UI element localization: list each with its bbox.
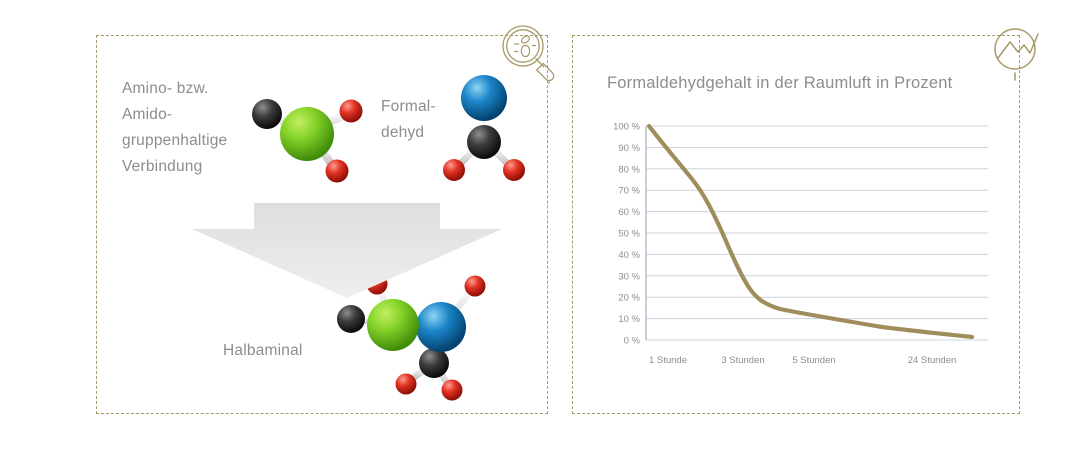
x-tick-label: 3 Stunden: [721, 355, 764, 366]
x-tick-label: 1 Stunde: [649, 355, 687, 366]
y-tick-label: 30 %: [618, 271, 640, 282]
y-tick-label: 80 %: [618, 164, 640, 175]
chart-title: Formaldehydgehalt in der Raumluft in Pro…: [607, 74, 952, 93]
y-tick-label: 10 %: [618, 314, 640, 325]
amino-compound-molecule: [240, 84, 380, 196]
x-tick-label: 5 Stunden: [792, 355, 835, 366]
chart-y-tick-labels: 100 % 90 % 80 % 70 % 60 % 50 % 40 % 30 %…: [613, 122, 640, 347]
formaldehyde-decay-line-chart: 100 % 90 % 80 % 70 % 60 % 50 % 40 % 30 %…: [596, 118, 996, 380]
chart-data-line: [649, 126, 972, 337]
y-tick-label: 0 %: [624, 336, 641, 347]
trend-line-circle-icon: [988, 22, 1050, 84]
y-tick-label: 70 %: [618, 186, 640, 197]
x-tick-label: 24 Stunden: [908, 355, 957, 366]
chart-gridlines: [646, 126, 988, 340]
y-tick-label: 100 %: [613, 122, 640, 133]
y-tick-label: 90 %: [618, 143, 640, 154]
y-tick-label: 50 %: [618, 229, 640, 240]
down-arrow-icon: [192, 203, 502, 298]
chart-x-tick-labels: 1 Stunde 3 Stunden 5 Stunden 24 Stunden: [649, 355, 956, 366]
y-tick-label: 60 %: [618, 207, 640, 218]
y-tick-label: 20 %: [618, 293, 640, 304]
y-tick-label: 40 %: [618, 250, 640, 261]
formaldehyde-molecule: [432, 68, 536, 192]
